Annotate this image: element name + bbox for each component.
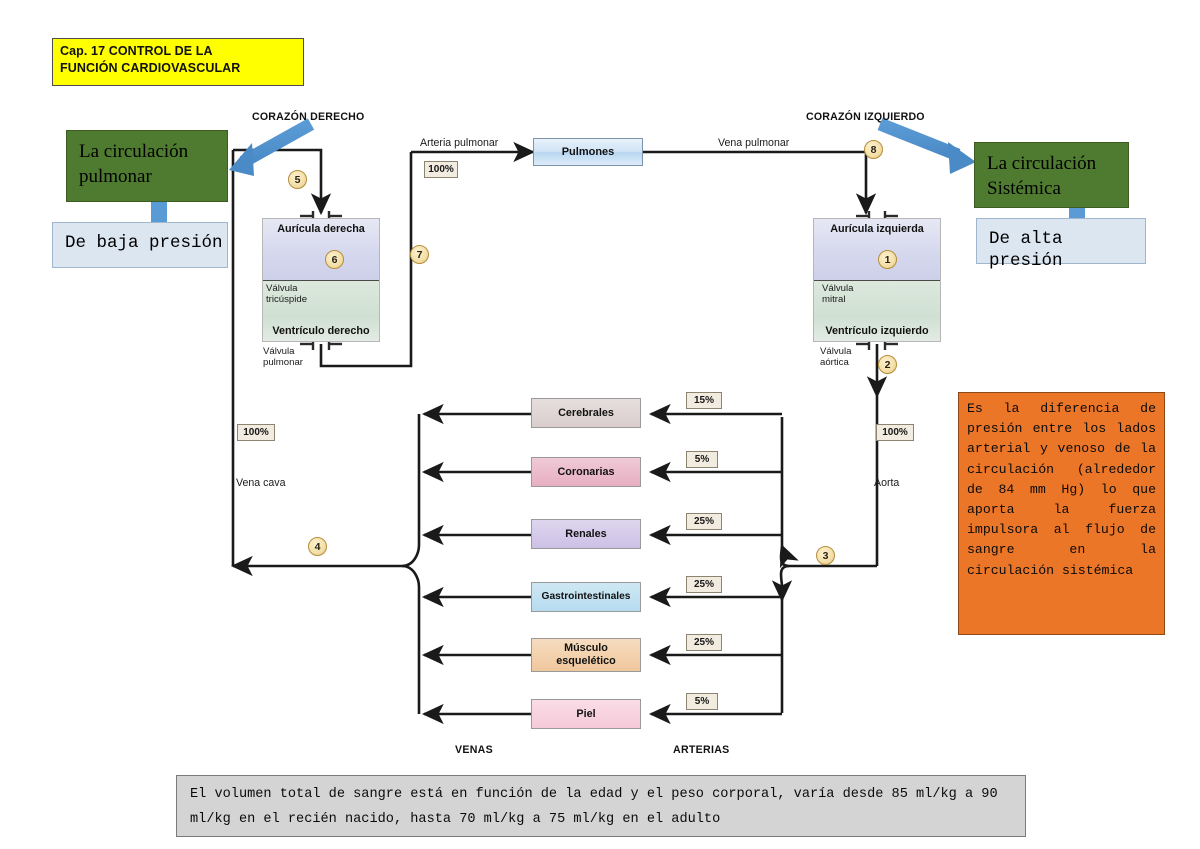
callout-pulmonary-circulation: La circulación pulmonar	[66, 130, 228, 202]
diagram-canvas: Cap. 17 CONTROL DE LA FUNCIÓN CARDIOVASC…	[0, 0, 1200, 849]
organ-label-gastrointestinales: Gastrointestinales	[542, 591, 631, 604]
callout-systemic-line1: La circulación	[987, 151, 1118, 176]
organ-box-coronarias: Coronarias	[531, 457, 641, 487]
blue-arrow-right-diagonal	[880, 124, 976, 174]
left-heart-block: Aurícula izquierda Ventrículo izquierdo	[813, 218, 941, 342]
chapter-title-line1: Cap. 17 CONTROL DE LA	[60, 43, 296, 60]
lungs-box: Pulmones	[533, 138, 643, 166]
callout-high-pressure: De alta presión	[976, 218, 1146, 264]
step-circle-7: 7	[410, 245, 429, 264]
right-atrium-label: Aurícula derecha	[277, 223, 365, 235]
organ-label-cerebrales: Cerebrales	[558, 407, 614, 420]
organ-pct-piel: 5%	[686, 693, 718, 710]
organ-pct-cerebrales: 15%	[686, 392, 722, 409]
right-atrium: Aurícula derecha	[263, 219, 379, 281]
vena-cava-pct: 100%	[237, 424, 275, 441]
step-circle-3: 3	[816, 546, 835, 565]
organ-label-piel: Piel	[576, 708, 595, 721]
step-circle-4: 4	[308, 537, 327, 556]
aorta-pct: 100%	[876, 424, 914, 441]
left-atrium: Aurícula izquierda	[814, 219, 940, 281]
organ-box-gastrointestinales: Gastrointestinales	[531, 582, 641, 612]
right-ventricle-label: Ventrículo derecho	[272, 325, 369, 337]
label-corazon-derecho: CORAZÓN DERECHO	[252, 111, 364, 123]
organ-box-musculo-esqueletico: Músculo esquelético	[531, 638, 641, 672]
pressure-difference-note: Es la diferencia de presión entre los la…	[958, 392, 1165, 635]
chapter-title-line2: FUNCIÓN CARDIOVASCULAR	[60, 60, 296, 77]
aortic-valve-label: Válvula aórtica	[820, 346, 851, 369]
blood-volume-note: El volumen total de sangre está en funci…	[176, 775, 1026, 837]
organ-label-renales: Renales	[565, 528, 606, 541]
pressure-difference-text: Es la diferencia de presión entre los la…	[967, 399, 1156, 581]
chapter-title-banner: Cap. 17 CONTROL DE LA FUNCIÓN CARDIOVASC…	[52, 38, 304, 86]
pulmonary-artery-label: Arteria pulmonar	[420, 137, 498, 149]
mitral-valve-label: Válvula mitral	[822, 283, 853, 306]
step-circle-8: 8	[864, 140, 883, 159]
organ-label-musculo-line2: esquelético	[556, 655, 615, 668]
callout-systemic-circulation: La circulación Sistémica	[974, 142, 1129, 208]
organ-pct-musculo-esqueletico: 25%	[686, 634, 722, 651]
organ-pct-coronarias: 5%	[686, 451, 718, 468]
right-heart-block: Aurícula derecha Ventrículo derecho	[262, 218, 380, 342]
step-circle-1: 1	[878, 250, 897, 269]
label-corazon-izquierdo: CORAZÓN IZQUIERDO	[806, 111, 925, 123]
tricuspid-valve-label: Válvula tricúspide	[266, 283, 307, 306]
step-circle-2: 2	[878, 355, 897, 374]
organ-box-cerebrales: Cerebrales	[531, 398, 641, 428]
organ-pct-gastrointestinales: 25%	[686, 576, 722, 593]
left-ventricle-label: Ventrículo izquierdo	[825, 325, 928, 337]
callout-pulmonary-line1: La circulación	[79, 139, 217, 164]
aorta-label: Aorta	[874, 477, 899, 489]
pulmonary-artery-pct: 100%	[424, 161, 458, 178]
organ-pct-renales: 25%	[686, 513, 722, 530]
left-atrium-label: Aurícula izquierda	[830, 223, 924, 235]
venas-label: VENAS	[455, 744, 493, 756]
organ-label-coronarias: Coronarias	[558, 466, 615, 479]
vena-cava-label: Vena cava	[236, 477, 285, 489]
step-circle-6: 6	[325, 250, 344, 269]
organ-box-piel: Piel	[531, 699, 641, 729]
lungs-label: Pulmones	[562, 146, 615, 158]
arterias-label: ARTERIAS	[673, 744, 730, 756]
pulmonary-vein-label: Vena pulmonar	[718, 137, 789, 149]
callout-pulmonary-line2: pulmonar	[79, 164, 217, 189]
pulmonary-valve-label: Válvula pulmonar	[263, 346, 303, 369]
organ-box-renales: Renales	[531, 519, 641, 549]
step-circle-5: 5	[288, 170, 307, 189]
callout-systemic-line2: Sistémica	[987, 176, 1118, 201]
organ-label-musculo-line1: Músculo	[564, 642, 608, 655]
callout-low-pressure: De baja presión	[52, 222, 228, 268]
blue-arrow-left-diagonal	[229, 124, 311, 176]
